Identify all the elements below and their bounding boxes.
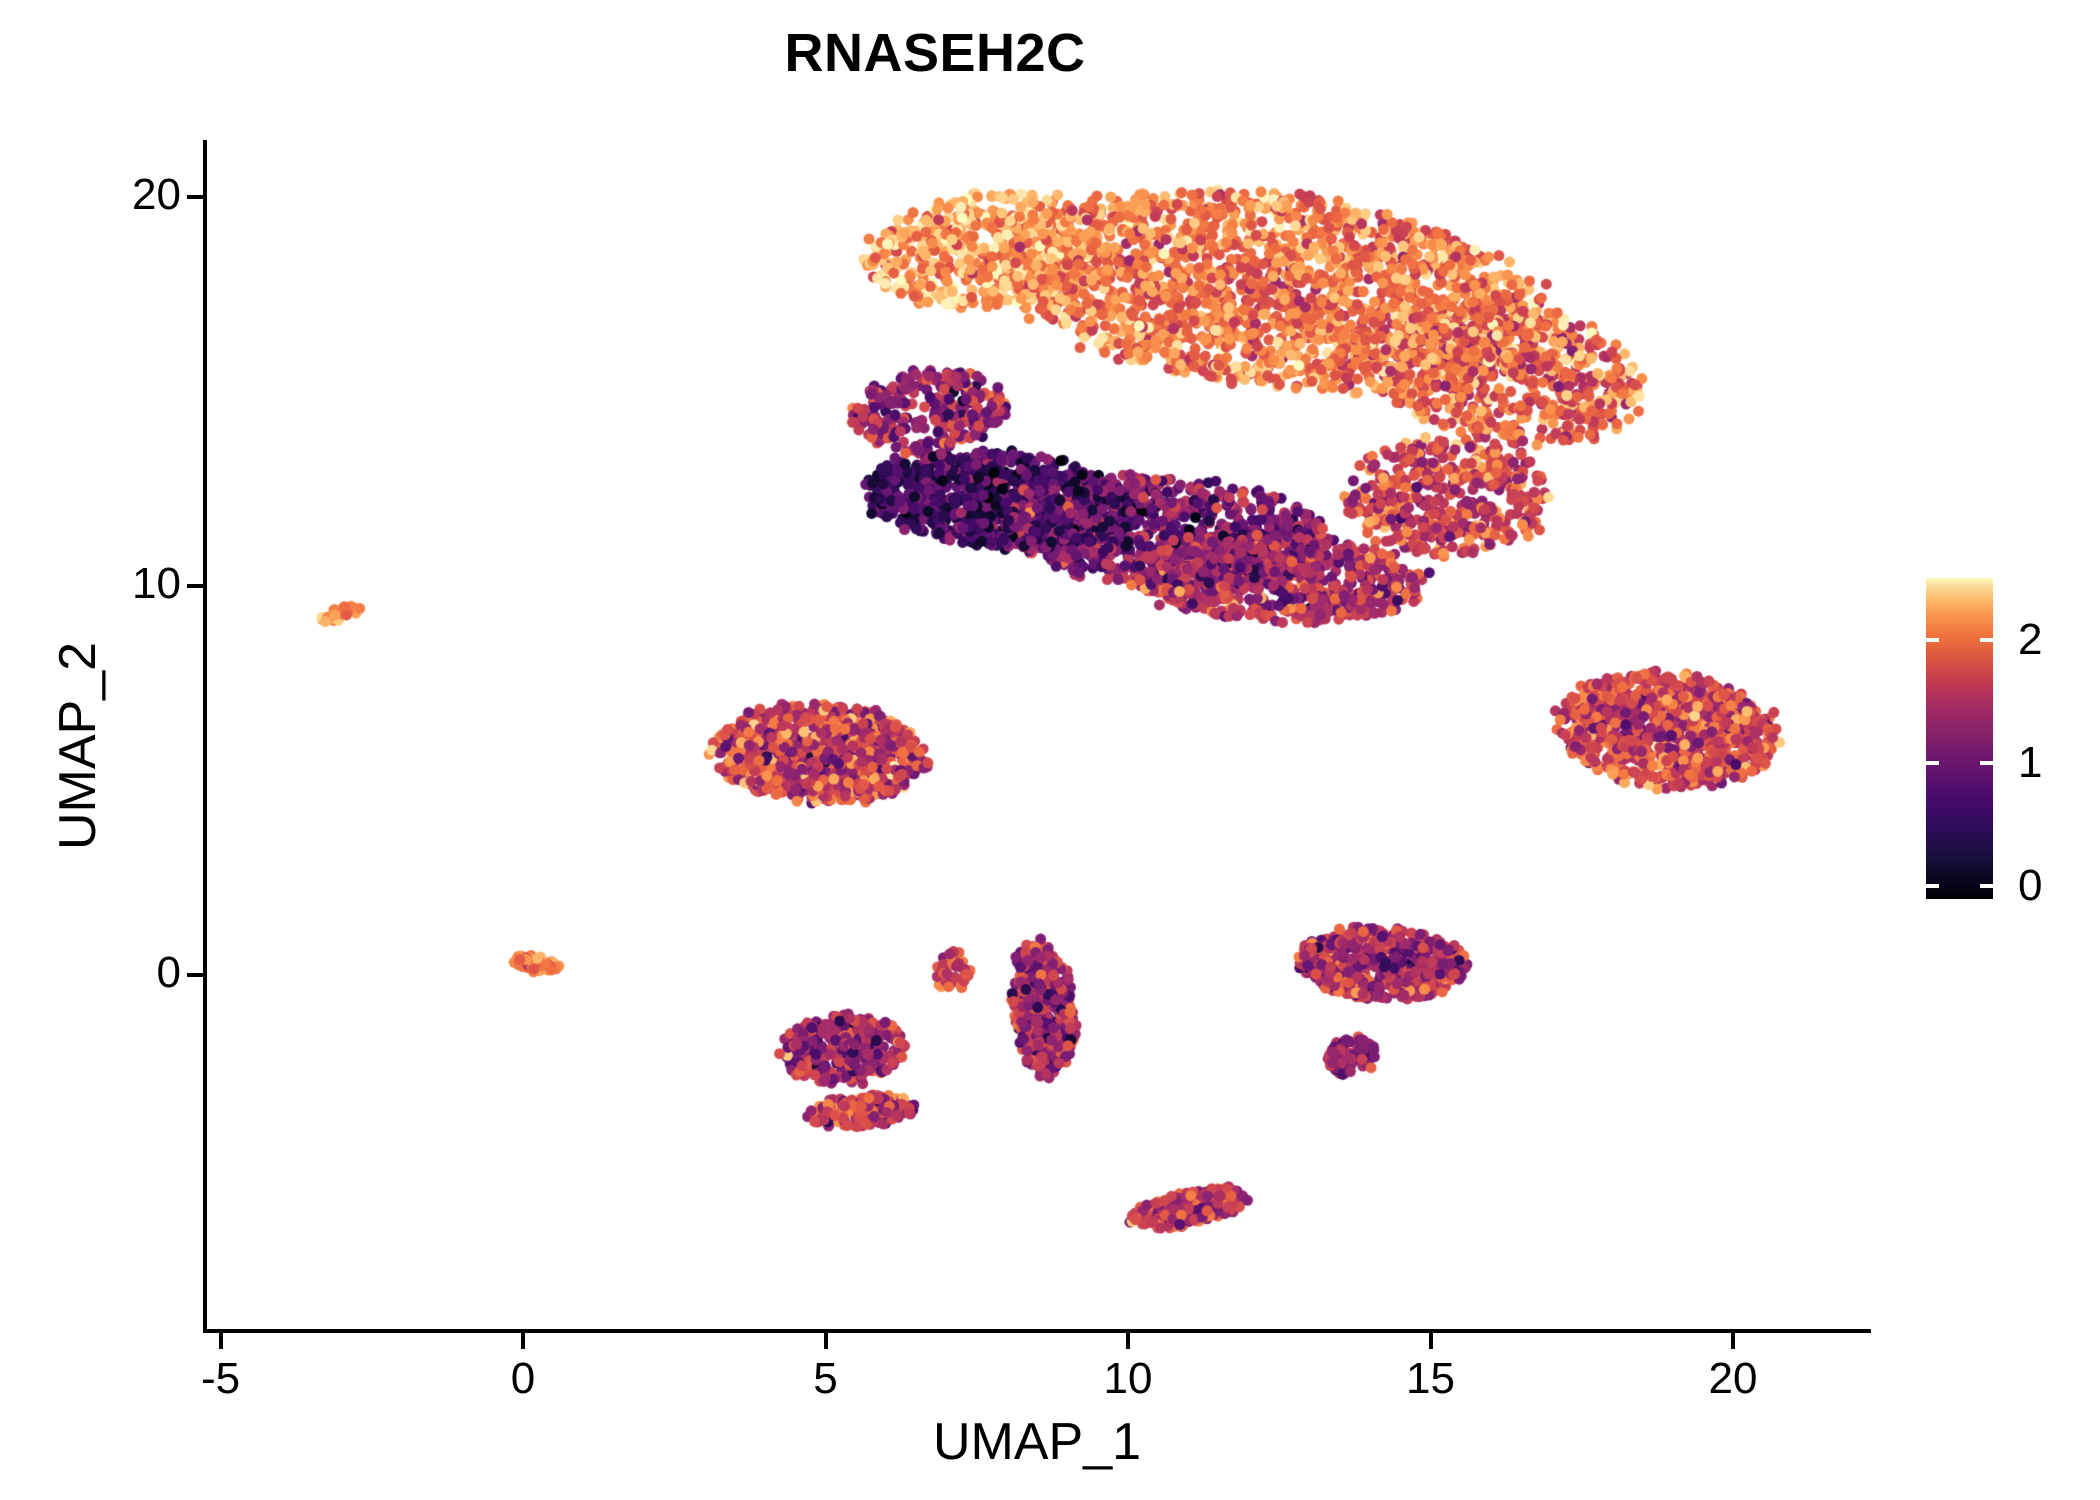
x-axis-line [203,1329,1871,1333]
x-tick-mark [1731,1333,1735,1349]
colorbar-tick-0-right [1980,884,1993,888]
y-tick-mark [187,195,203,199]
y-tick-mark [187,584,203,588]
colorbar-tick-0-left [1926,884,1939,888]
x-tick-label: 0 [423,1354,623,1404]
y-tick-label: 20 [132,170,181,220]
y-axis-line [203,140,207,1332]
x-tick-label: -5 [121,1354,321,1404]
colorbar-gradient [1926,578,1993,899]
x-axis-title: UMAP_1 [203,1412,1871,1472]
y-tick-mark [187,973,203,977]
y-axis-title: UMAP_2 [48,346,108,1146]
x-tick-label: 20 [1633,1354,1833,1404]
x-tick-mark [521,1333,525,1349]
x-tick-mark [824,1333,828,1349]
feature-plot-figure: RNASEH2C 01020 -505101520 UMAP_1 UMAP_2 … [0,0,2100,1500]
y-tick-label: 0 [157,948,181,998]
colorbar-label-2: 2 [2018,615,2042,665]
colorbar-tick-2-right [1980,638,1993,642]
x-tick-label: 15 [1331,1354,1531,1404]
colorbar-label-0: 0 [2018,861,2042,911]
colorbar-tick-1-left [1926,761,1939,765]
colorbar-tick-1-right [1980,761,1993,765]
umap-scatter-points [205,140,1870,1330]
x-tick-label: 10 [1028,1354,1228,1404]
colorbar-label-1: 1 [2018,738,2042,788]
y-tick-label: 10 [132,559,181,609]
x-tick-mark [1429,1333,1433,1349]
x-tick-mark [1126,1333,1130,1349]
x-tick-mark [219,1333,223,1349]
colorbar-tick-2-left [1926,638,1939,642]
scatter-plot-panel [205,140,1870,1330]
x-tick-label: 5 [726,1354,926,1404]
page-title: RNASEH2C [0,22,1870,84]
